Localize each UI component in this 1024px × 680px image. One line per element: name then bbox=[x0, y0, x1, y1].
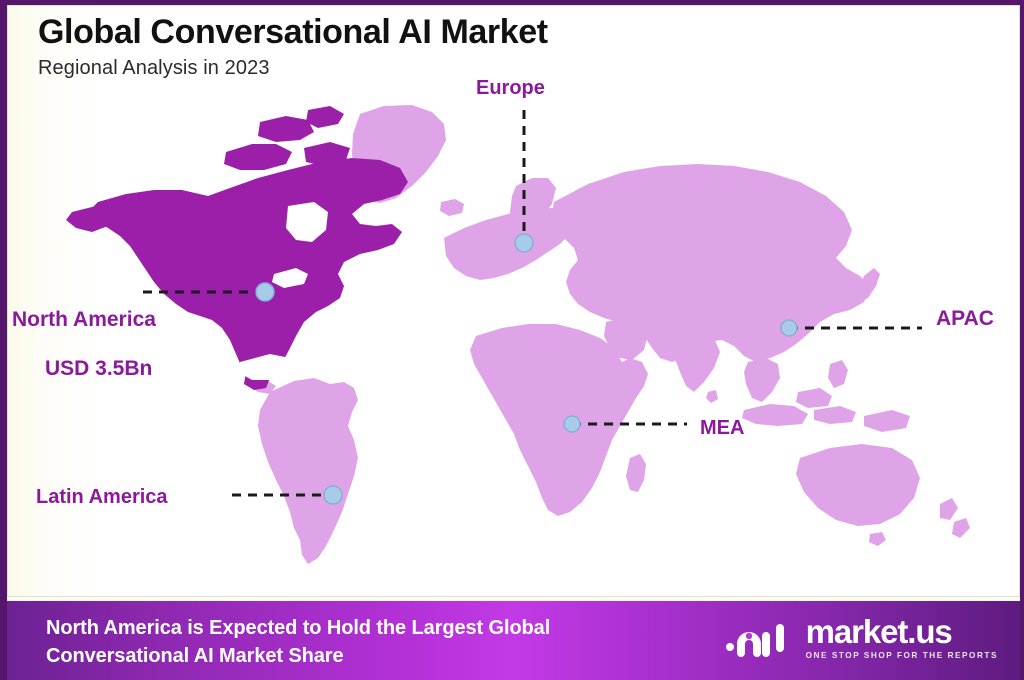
infographic-page: Global Conversational AI Market Regional… bbox=[0, 0, 1024, 680]
region-borneo bbox=[796, 388, 832, 408]
brand-logo[interactable]: market.us ONE STOP SHOP FOR THE REPORTS bbox=[725, 615, 998, 660]
logo-tagline: ONE STOP SHOP FOR THE REPORTS bbox=[806, 651, 998, 660]
region-new-guinea bbox=[864, 410, 910, 432]
page-subtitle: Regional Analysis in 2023 bbox=[38, 57, 548, 80]
region-label-north-america: North America bbox=[12, 308, 156, 332]
logo-wordmark: market.us bbox=[806, 615, 998, 648]
region-indonesia-1 bbox=[742, 404, 808, 426]
region-value-north-america: USD 3.5Bn bbox=[45, 357, 152, 381]
page-title: Global Conversational AI Market bbox=[38, 14, 548, 51]
logo-text-block: market.us ONE STOP SHOP FOR THE REPORTS bbox=[806, 615, 998, 660]
footer-headline: North America is Expected to Hold the La… bbox=[46, 615, 736, 670]
region-south-america bbox=[258, 378, 358, 564]
region-new-zealand-2 bbox=[952, 518, 970, 538]
region-tasmania bbox=[869, 532, 886, 546]
region-label-latin-america: Latin America bbox=[36, 486, 168, 509]
region-australia bbox=[796, 444, 920, 526]
market-us-logo-icon bbox=[725, 616, 797, 660]
region-iceland bbox=[440, 199, 464, 216]
region-india bbox=[674, 332, 720, 392]
region-canada-arctic-4 bbox=[306, 106, 344, 128]
region-philippines bbox=[828, 360, 848, 388]
region-canada-arctic-2 bbox=[258, 116, 314, 142]
region-asia bbox=[552, 164, 870, 362]
region-label-mea: MEA bbox=[700, 417, 744, 440]
footer-headline-line1: North America is Expected to Hold the La… bbox=[46, 615, 736, 643]
footer-headline-line2: Conversational AI Market Share bbox=[46, 643, 736, 671]
region-indochina bbox=[744, 358, 780, 402]
region-label-apac: APAC bbox=[936, 307, 994, 331]
region-label-europe: Europe bbox=[476, 77, 545, 100]
region-canada-arctic-1 bbox=[224, 144, 292, 170]
header: Global Conversational AI Market Regional… bbox=[38, 14, 548, 80]
region-madagascar bbox=[626, 454, 646, 492]
region-new-zealand bbox=[940, 498, 958, 520]
region-indonesia-2 bbox=[814, 406, 856, 424]
region-sri-lanka bbox=[706, 390, 718, 403]
footer-banner: North America is Expected to Hold the La… bbox=[0, 601, 1024, 680]
